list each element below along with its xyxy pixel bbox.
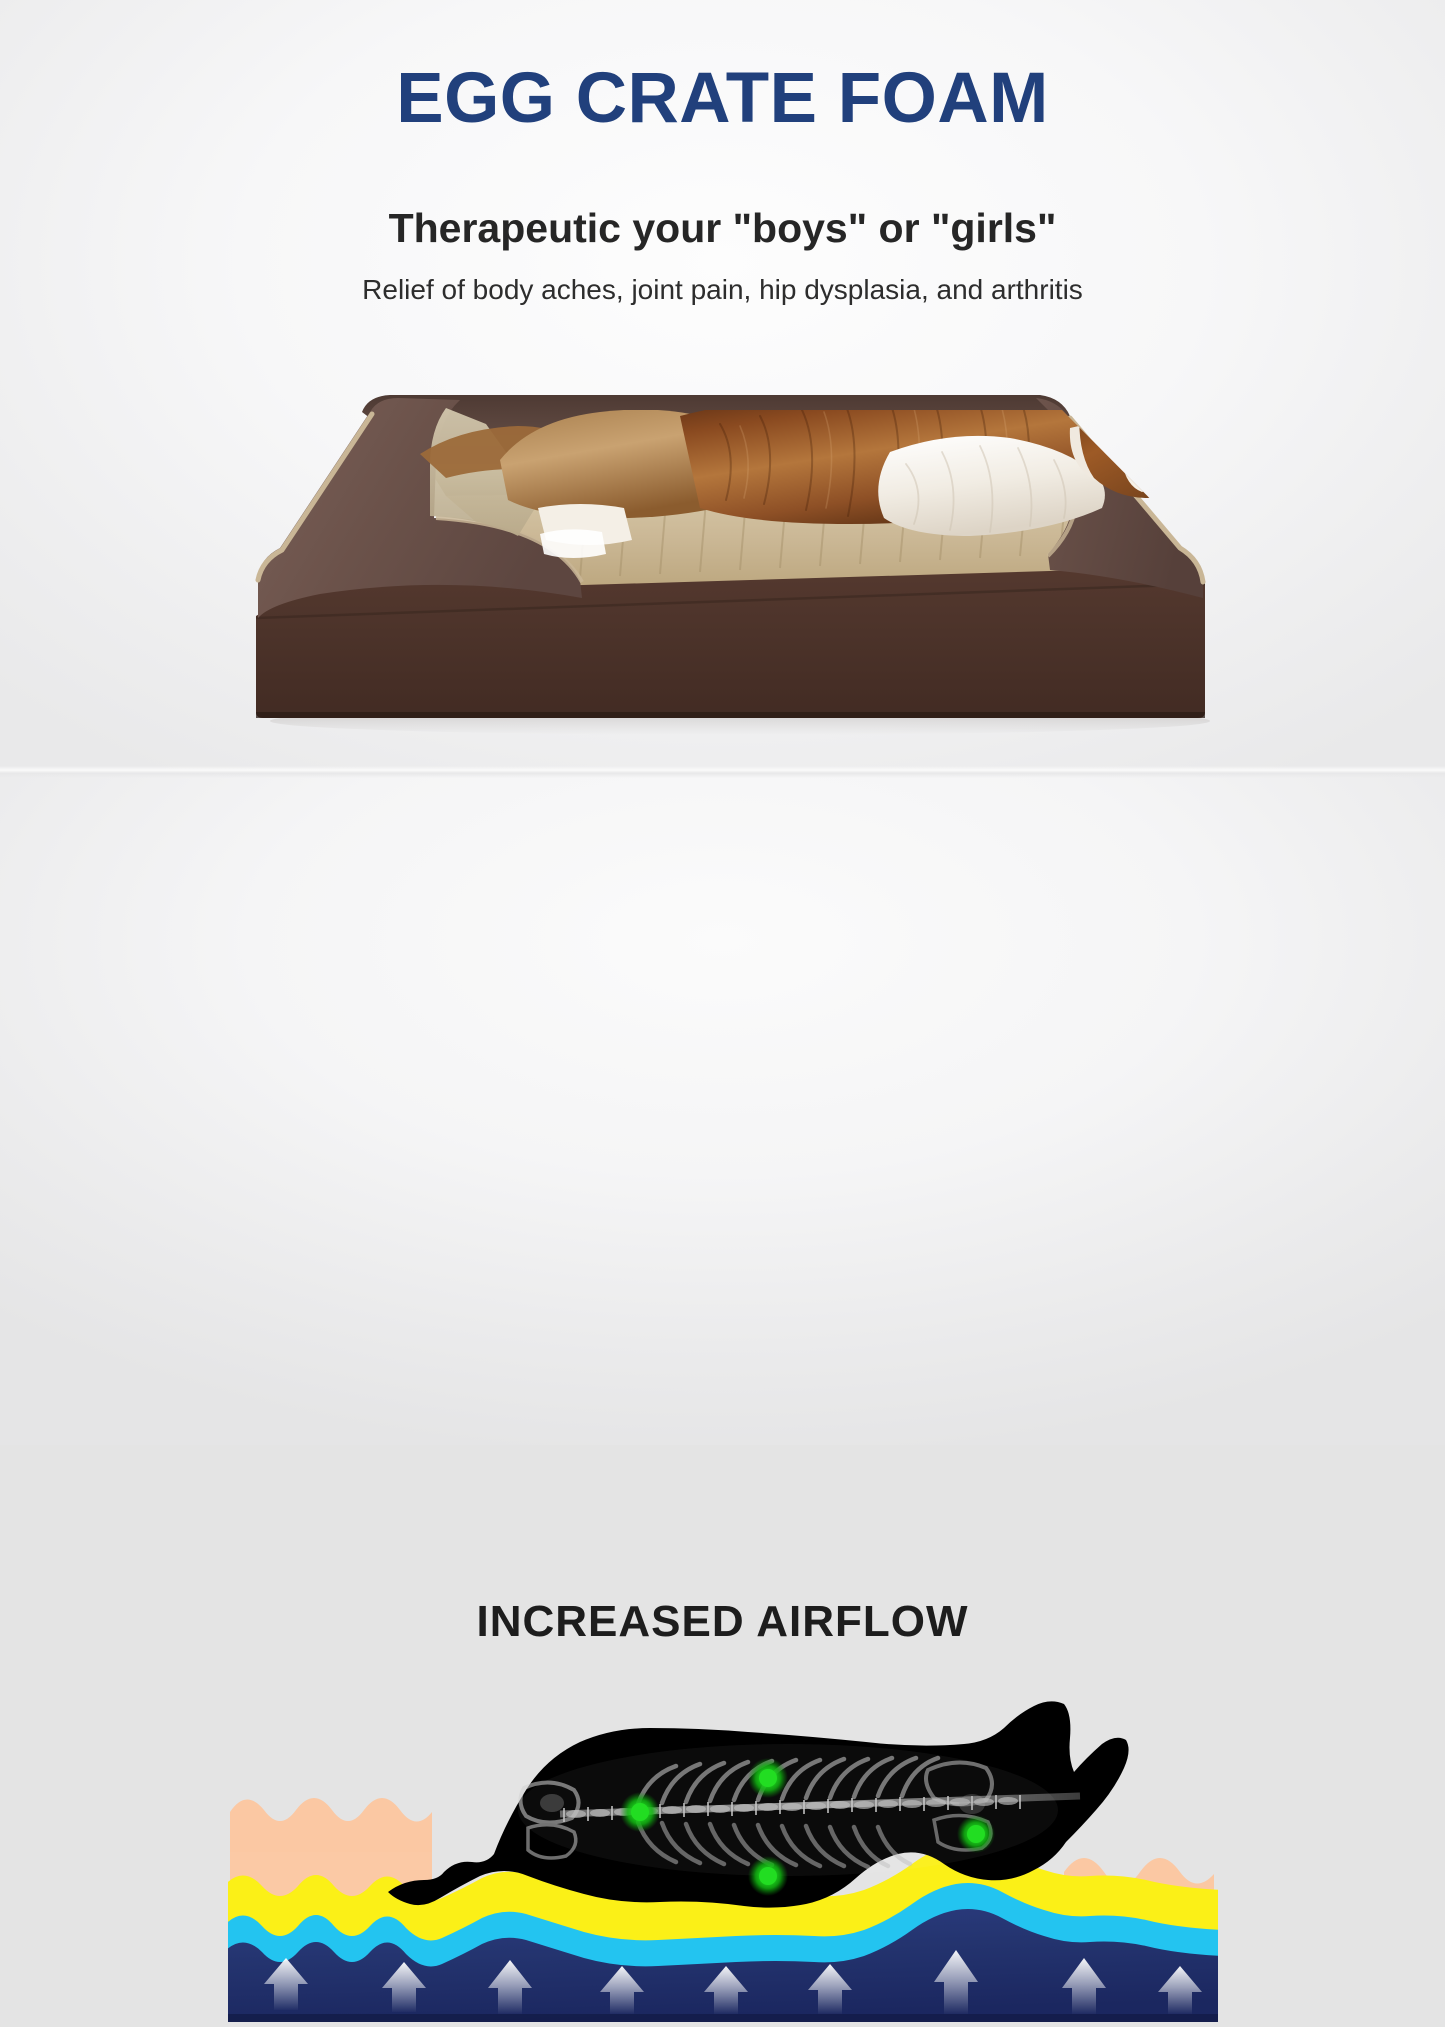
- page-title: EGG CRATE FOAM: [0, 58, 1445, 139]
- airflow-section-title: INCREASED AIRFLOW: [0, 1597, 1445, 1647]
- orthopedic-dog-bed-with-dog-photo: [250, 368, 1212, 740]
- top-feature-panel: EGG CRATE FOAM Therapeutic your "boys" o…: [0, 0, 1445, 772]
- airflow-panel: INCREASED AIRFLOW: [0, 772, 1445, 1445]
- feature-tagline: Relief of body aches, joint pain, hip dy…: [0, 274, 1445, 306]
- airflow-cross-section-diagram: [228, 1692, 1218, 2027]
- section-divider: [0, 766, 1445, 778]
- feature-subtitle: Therapeutic your "boys" or "girls": [0, 205, 1445, 252]
